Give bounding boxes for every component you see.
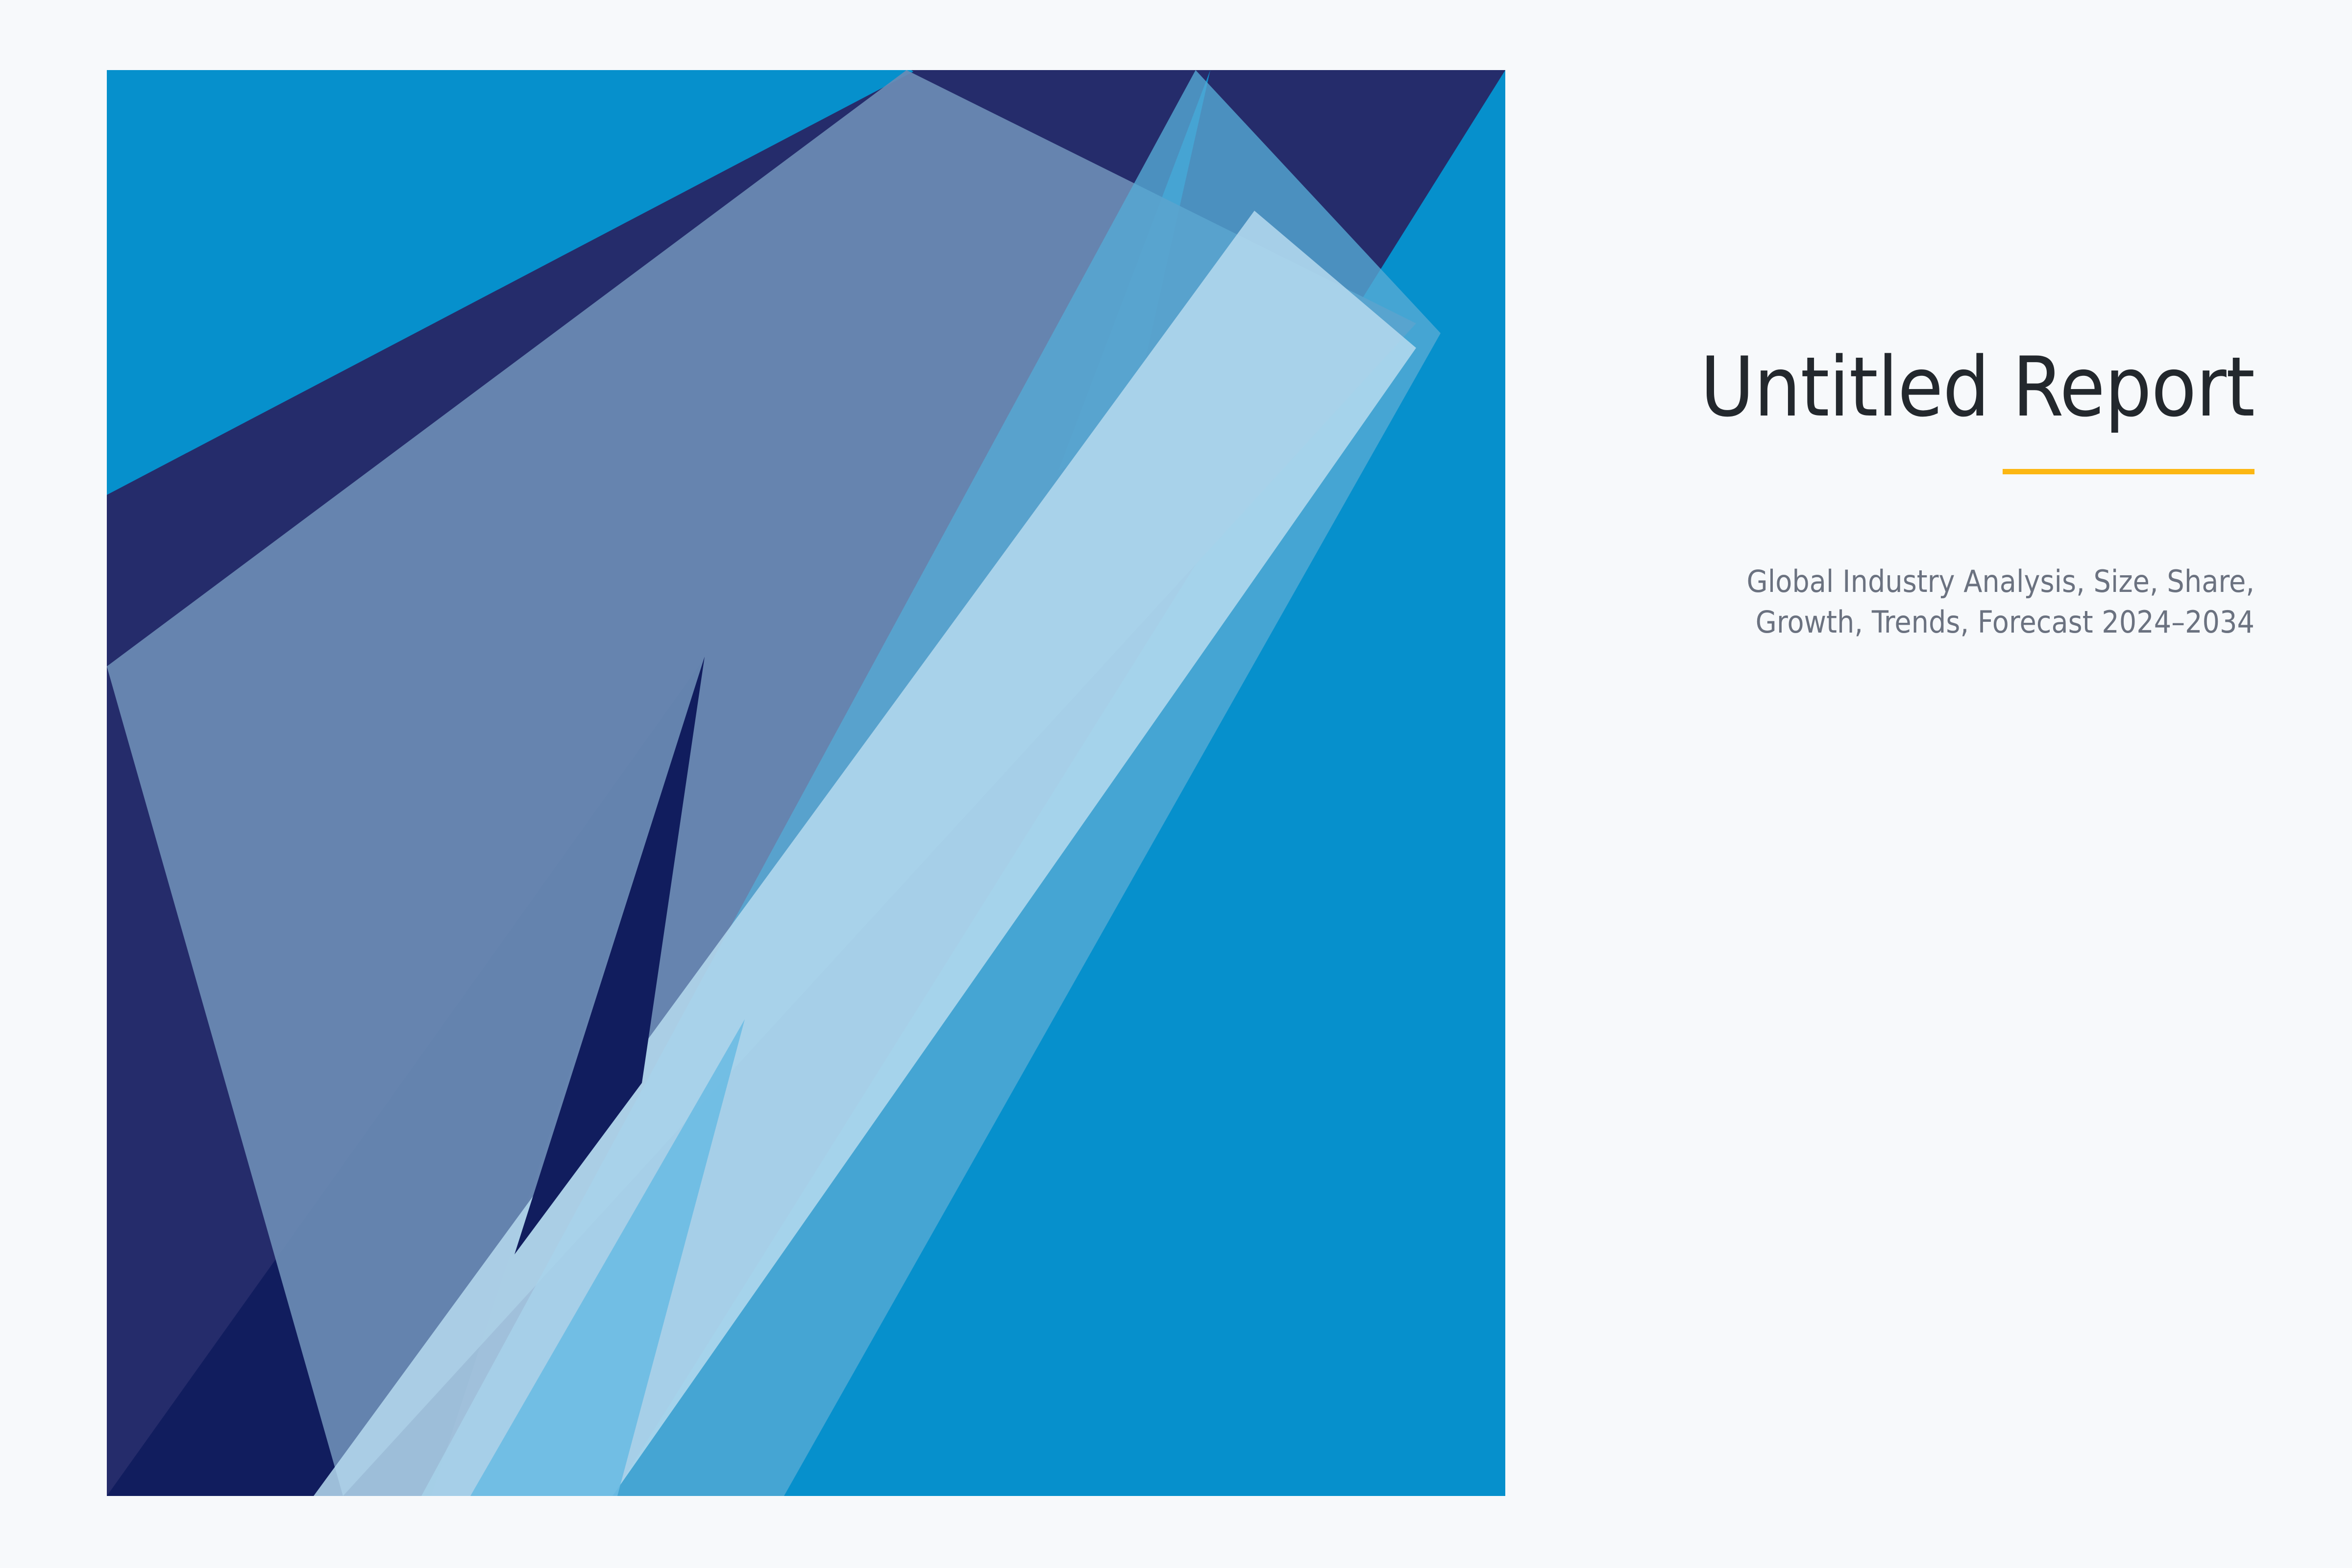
title-rule-wrapper — [1568, 469, 2254, 474]
subtitle-line-1: Global Industry Analysis, Size, Share, — [1746, 563, 2254, 599]
report-cover-page: Untitled Report Global Industry Analysis… — [0, 0, 2352, 1568]
subtitle-line-2: Growth, Trends, Forecast 2024–2034 — [1756, 604, 2254, 640]
report-subtitle: Global Industry Analysis, Size, Share, G… — [1568, 562, 2254, 642]
cover-artwork — [0, 0, 1617, 1568]
page-title: Untitled Report — [1568, 343, 2254, 432]
cover-text-block: Untitled Report Global Industry Analysis… — [1568, 343, 2254, 642]
title-accent-rule — [2003, 469, 2254, 474]
abstract-geometric-graphic — [0, 0, 1617, 1568]
